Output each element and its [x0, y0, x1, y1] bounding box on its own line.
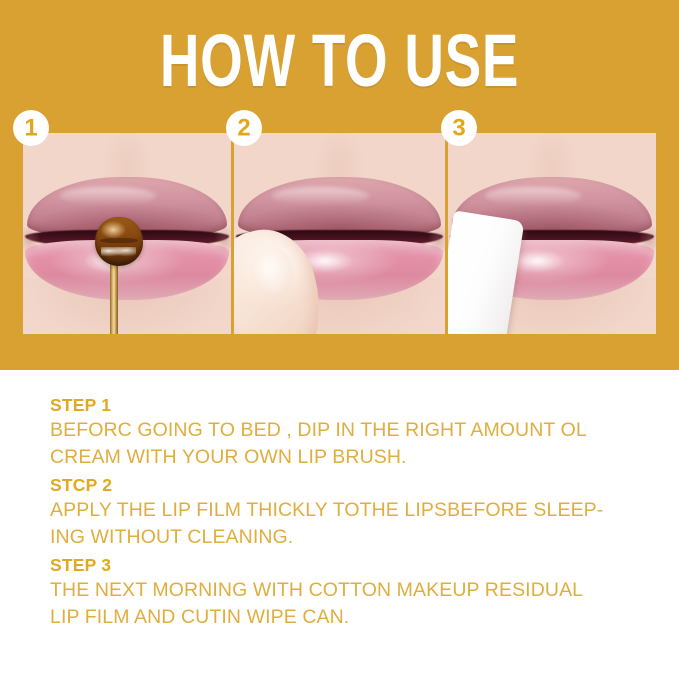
photo-panel-step-2	[234, 133, 445, 334]
mouth-corner-right	[639, 225, 656, 253]
step-2-heading: STCP 2	[50, 473, 650, 497]
mouth-corner-right	[214, 225, 231, 253]
upper-lip	[238, 177, 441, 237]
how-to-use-infographic: HOW TO USE	[0, 0, 679, 679]
steps-list: STEP 1 BEFORC GOING TO BED , DIP IN THE …	[50, 393, 650, 633]
step-item-1: STEP 1 BEFORC GOING TO BED , DIP IN THE …	[50, 393, 650, 471]
mouth-corner-right	[428, 225, 445, 253]
lip-applicator-photo	[23, 133, 231, 334]
page-title: HOW TO USE	[88, 24, 590, 98]
step-1-heading: STEP 1	[50, 393, 650, 417]
lip-fingertip-photo	[234, 133, 445, 334]
step-item-2: STCP 2 APPLY THE LIP FILM THICKLY TOTHE …	[50, 473, 650, 551]
applicator-head-icon	[95, 217, 143, 265]
photo-strip	[23, 133, 656, 334]
lip-cotton-pad-photo	[448, 133, 656, 334]
step-1-body: BEFORC GOING TO BED , DIP IN THE RIGHT A…	[50, 417, 650, 471]
step-3-body: THE NEXT MORNING WITH COTTON MAKEUP RESI…	[50, 577, 650, 631]
photo-panel-step-3	[448, 133, 656, 334]
step-item-3: STEP 3 THE NEXT MORNING WITH COTTON MAKE…	[50, 553, 650, 631]
step-2-body: APPLY THE LIP FILM THICKLY TOTHE LIPSBEF…	[50, 497, 650, 551]
step-3-heading: STEP 3	[50, 553, 650, 577]
photo-panel-step-1	[23, 133, 231, 334]
mouth-corner-left	[23, 225, 40, 253]
